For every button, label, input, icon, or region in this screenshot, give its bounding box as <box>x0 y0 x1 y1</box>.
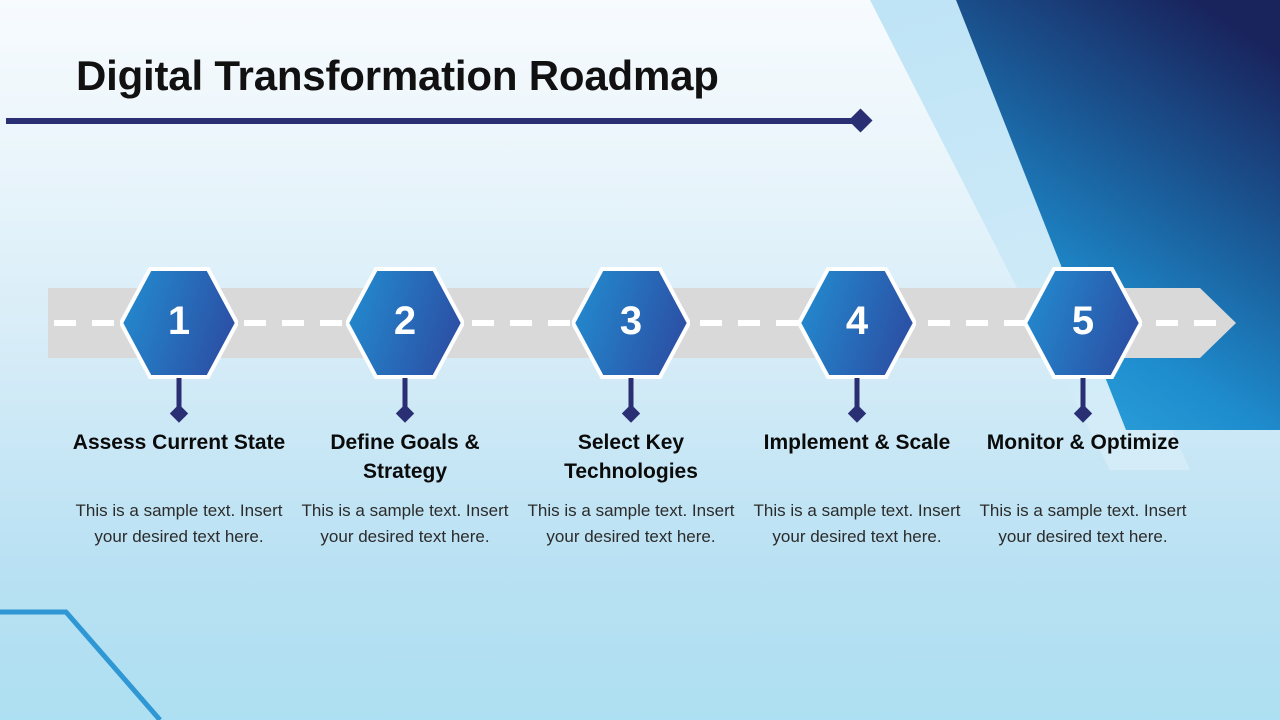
step-5-hexagon[interactable]: 5 <box>970 264 1196 384</box>
step-3-stem-diamond-icon <box>622 404 640 422</box>
step-5-body: This is a sample text. Insert your desir… <box>978 498 1188 550</box>
step-1-hexagon[interactable]: 1 <box>66 264 292 384</box>
step-1-number: 1 <box>66 264 292 378</box>
steps-container: 1 Assess Current State This is a sample … <box>0 0 1280 720</box>
step-4[interactable]: 4 Implement & Scale This is a sample tex… <box>744 264 970 384</box>
step-5-number: 5 <box>970 264 1196 378</box>
step-4-hexagon[interactable]: 4 <box>744 264 970 384</box>
step-2-title: Define Goals & Strategy <box>292 428 518 486</box>
slide-canvas: Digital Transformation Roadmap <box>0 0 1280 720</box>
step-5[interactable]: 5 Monitor & Optimize This is a sample te… <box>970 264 1196 384</box>
step-4-body: This is a sample text. Insert your desir… <box>752 498 962 550</box>
step-4-title: Implement & Scale <box>744 428 970 457</box>
step-1-title: Assess Current State <box>66 428 292 457</box>
step-3[interactable]: 3 Select Key Technologies This is a samp… <box>518 264 744 384</box>
step-3-number: 3 <box>518 264 744 378</box>
step-2-hexagon[interactable]: 2 <box>292 264 518 384</box>
step-1[interactable]: 1 Assess Current State This is a sample … <box>66 264 292 384</box>
step-3-hexagon[interactable]: 3 <box>518 264 744 384</box>
step-1-body: This is a sample text. Insert your desir… <box>74 498 284 550</box>
step-5-stem-diamond-icon <box>1074 404 1092 422</box>
step-2-body: This is a sample text. Insert your desir… <box>300 498 510 550</box>
step-1-stem-diamond-icon <box>170 404 188 422</box>
step-3-body: This is a sample text. Insert your desir… <box>526 498 736 550</box>
step-5-title: Monitor & Optimize <box>970 428 1196 457</box>
step-3-title: Select Key Technologies <box>518 428 744 486</box>
step-4-number: 4 <box>744 264 970 378</box>
step-2-stem-diamond-icon <box>396 404 414 422</box>
step-2-number: 2 <box>292 264 518 378</box>
step-4-stem-diamond-icon <box>848 404 866 422</box>
step-2[interactable]: 2 Define Goals & Strategy This is a samp… <box>292 264 518 384</box>
